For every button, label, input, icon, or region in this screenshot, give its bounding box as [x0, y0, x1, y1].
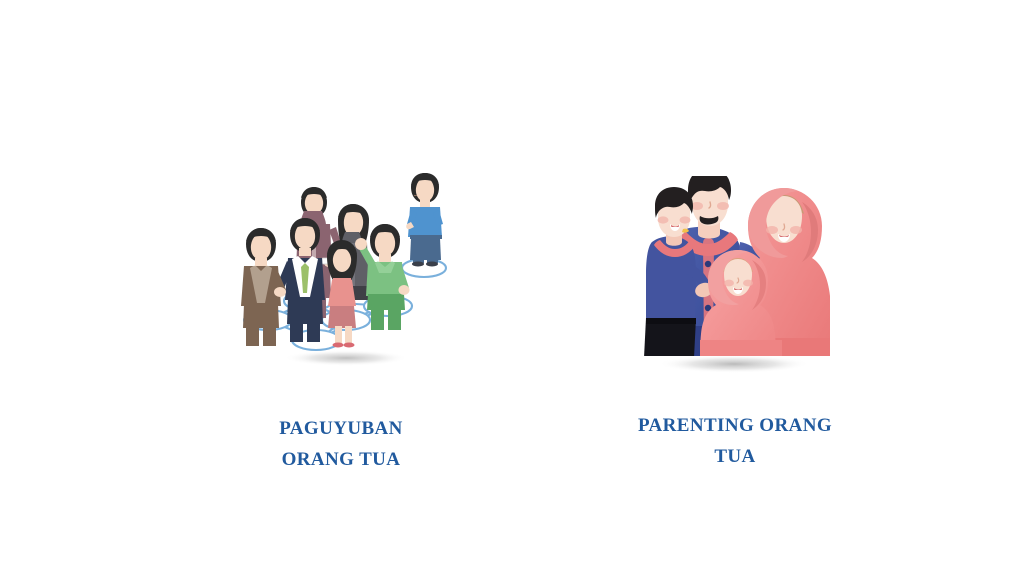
- muslim-family-of-four-illustration: [622, 168, 848, 368]
- slide-canvas: PAGUYUBAN ORANG TUA: [0, 0, 1024, 576]
- caption-paguyuban-orang-tua: PAGUYUBAN ORANG TUA: [246, 413, 436, 476]
- figure-man-isolated-blue: [406, 173, 443, 267]
- card-paguyuban-orang-tua: PAGUYUBAN ORANG TUA: [228, 168, 454, 476]
- card-parenting-orang-tua: PARENTING ORANG TUA: [622, 168, 848, 473]
- parent-community-network-illustration: [228, 168, 454, 368]
- caption-parenting-orang-tua: PARENTING ORANG TUA: [622, 410, 848, 473]
